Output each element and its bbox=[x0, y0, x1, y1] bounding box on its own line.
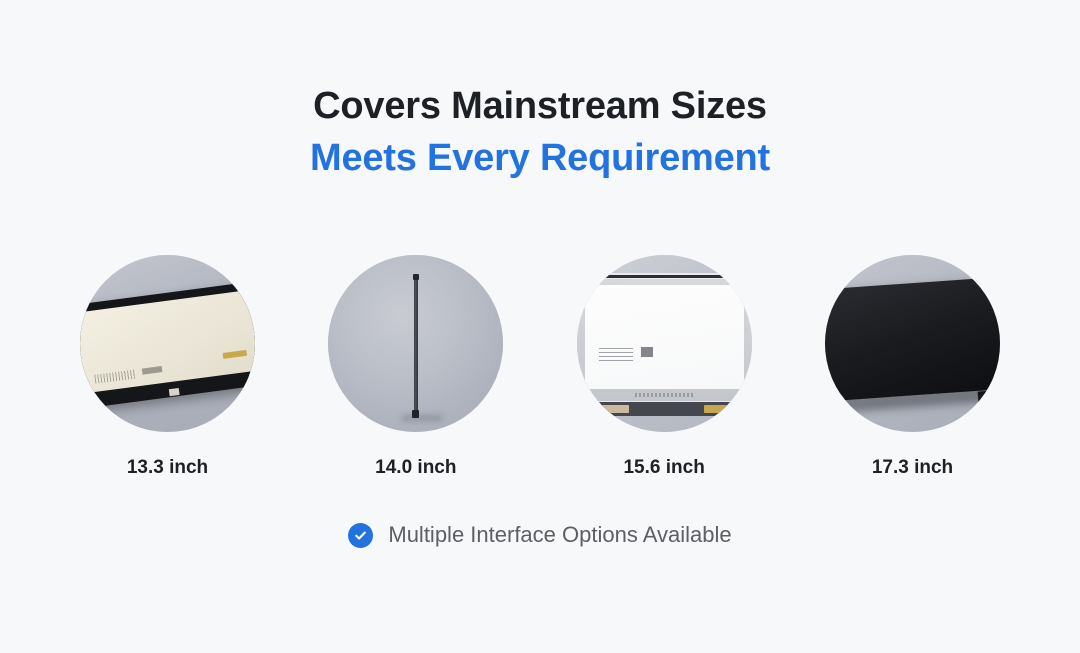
panel-logo-mark bbox=[142, 366, 163, 375]
panel-edge-cap-top bbox=[413, 274, 419, 280]
feature-text: Multiple Interface Options Available bbox=[388, 522, 731, 548]
panel-model-text bbox=[635, 393, 695, 397]
product-photo-13-3 bbox=[80, 255, 255, 432]
heading-line-primary: Covers Mainstream Sizes bbox=[0, 80, 1080, 132]
product-photo-15-6 bbox=[577, 255, 752, 432]
product-size-banner: Covers Mainstream Sizes Meets Every Requ… bbox=[0, 0, 1080, 653]
product-size-list: 13.3 inch 14.0 inch bbox=[80, 255, 1000, 479]
panel-barcode-icon bbox=[94, 370, 135, 384]
panel-bottom-tab bbox=[169, 388, 180, 396]
lcd-panel-body-icon bbox=[825, 276, 1000, 402]
panel-connector-icon bbox=[704, 405, 730, 413]
panel-logo-mark bbox=[641, 347, 653, 357]
panel-connector-icon bbox=[223, 350, 248, 359]
banner-heading: Covers Mainstream Sizes Meets Every Requ… bbox=[0, 80, 1080, 184]
lcd-panel-edge-icon bbox=[414, 276, 418, 415]
panel-top-edge bbox=[577, 275, 752, 278]
product-label-15-6: 15.6 inch bbox=[623, 457, 704, 479]
product-label-17-3: 17.3 inch bbox=[872, 457, 953, 479]
product-item-17-3: 17.3 inch bbox=[825, 255, 1000, 479]
product-label-13-3: 13.3 inch bbox=[127, 457, 208, 479]
lcd-screen-surface bbox=[585, 285, 744, 389]
product-photo-17-3 bbox=[825, 255, 1000, 432]
panel-foot-right bbox=[978, 390, 995, 403]
product-photo-14-0 bbox=[328, 255, 503, 432]
lcd-screen-surface bbox=[80, 289, 255, 393]
product-item-13-3: 13.3 inch bbox=[80, 255, 255, 479]
feature-highlight: Multiple Interface Options Available bbox=[0, 522, 1080, 548]
panel-edge-cap-bottom bbox=[412, 410, 419, 418]
product-label-14-0: 14.0 inch bbox=[375, 457, 456, 479]
heading-line-accent: Meets Every Requirement bbox=[0, 132, 1080, 184]
product-item-15-6: 15.6 inch bbox=[577, 255, 752, 479]
panel-drop-shadow bbox=[402, 415, 442, 421]
panel-barcode-icon bbox=[599, 347, 633, 361]
check-circle-icon bbox=[348, 523, 373, 548]
panel-tape-strip bbox=[591, 405, 629, 413]
product-item-14-0: 14.0 inch bbox=[328, 255, 503, 479]
